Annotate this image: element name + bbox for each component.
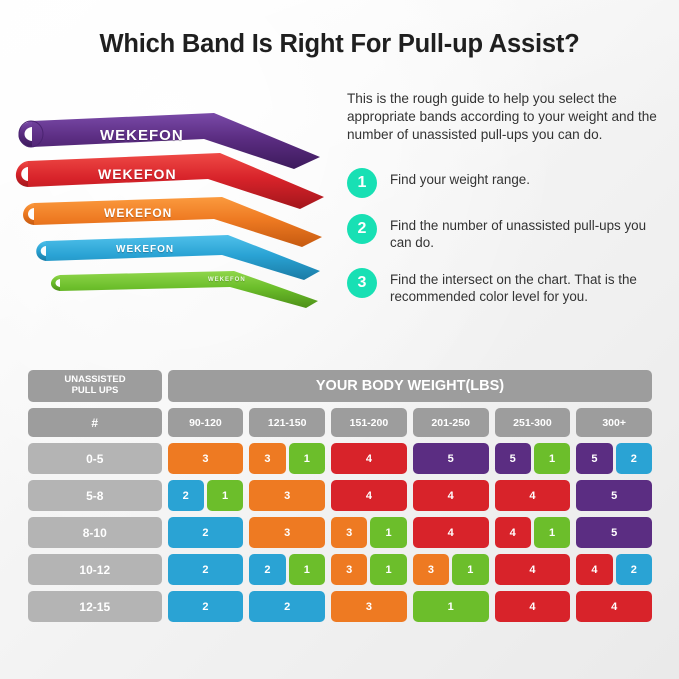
cell-r2-c1: 3 (249, 517, 325, 548)
cell-r1-c0: 21 (168, 480, 244, 511)
table-subheader-row: # 90-120 121-150 151-200 201-250 251-300… (28, 408, 652, 437)
blue-band-label: WEKEFON (116, 244, 174, 255)
band-chip: 4 (576, 554, 612, 585)
weight-range-0: 90-120 (168, 408, 244, 437)
band-chip: 3 (331, 554, 367, 585)
cell-r1-c1: 3 (249, 480, 325, 511)
cell-r2-c2: 31 (331, 517, 407, 548)
cell-r4-c3: 1 (413, 591, 489, 622)
step-1: 1 Find your weight range. (347, 168, 669, 198)
weight-range-5: 300+ (576, 408, 652, 437)
band-chip: 1 (534, 443, 570, 474)
cell-r2-c4: 41 (495, 517, 571, 548)
band-chip: 1 (207, 480, 243, 511)
bands-illustration: WEKEFON WEKEFON WEKEFON WEKEFON WEKEFON (8, 95, 338, 345)
band-chip: 2 (168, 517, 244, 548)
band-chip: 1 (289, 554, 325, 585)
step-3-badge: 3 (347, 268, 377, 298)
cell-r0-c0: 3 (168, 443, 244, 474)
band-chip: 3 (249, 443, 285, 474)
band-chip: 4 (576, 591, 652, 622)
steps-list: 1 Find your weight range. 2 Find the num… (347, 168, 669, 322)
cell-r0-c5: 52 (576, 443, 652, 474)
cell-r2-c0: 2 (168, 517, 244, 548)
cell-r2-c3: 4 (413, 517, 489, 548)
table-header-row: UNASSISTED PULL UPS YOUR BODY WEIGHT(LBS… (28, 370, 652, 402)
cell-r3-c2: 31 (331, 554, 407, 585)
cell-r4-c5: 4 (576, 591, 652, 622)
weight-range-3: 201-250 (413, 408, 489, 437)
band-chip: 4 (495, 480, 571, 511)
step-3-text: Find the intersect on the chart. That is… (390, 268, 669, 306)
band-chip: 3 (249, 517, 325, 548)
cell-r4-c1: 2 (249, 591, 325, 622)
cell-r1-c2: 4 (331, 480, 407, 511)
table-row: 8-1023314415 (28, 517, 652, 548)
purple-band-label: WEKEFON (100, 127, 184, 144)
band-chip: 4 (495, 554, 571, 585)
band-chip: 5 (576, 480, 652, 511)
band-chip: 1 (370, 517, 406, 548)
band-chip: 5 (413, 443, 489, 474)
band-chip: 2 (249, 554, 285, 585)
cell-r3-c5: 42 (576, 554, 652, 585)
band-chip: 2 (168, 554, 244, 585)
weight-range-2: 151-200 (331, 408, 407, 437)
cell-r4-c2: 3 (331, 591, 407, 622)
band-chip: 1 (289, 443, 325, 474)
band-chip: 1 (370, 554, 406, 585)
cell-r3-c3: 31 (413, 554, 489, 585)
cell-r0-c4: 51 (495, 443, 571, 474)
green-band (51, 271, 318, 308)
red-band-label: WEKEFON (98, 166, 177, 182)
table-row: 10-122213131442 (28, 554, 652, 585)
band-chip: 2 (616, 443, 652, 474)
cell-r0-c2: 4 (331, 443, 407, 474)
weight-range-1: 121-150 (249, 408, 325, 437)
step-1-badge: 1 (347, 168, 377, 198)
step-1-text: Find your weight range. (390, 168, 530, 188)
table-row: 12-15223144 (28, 591, 652, 622)
band-chip: 4 (331, 443, 407, 474)
cell-r3-c1: 21 (249, 554, 325, 585)
band-chip: 2 (249, 591, 325, 622)
cell-r2-c5: 5 (576, 517, 652, 548)
step-2-text: Find the number of unassisted pull-ups y… (390, 214, 669, 252)
band-chip: 3 (331, 517, 367, 548)
table-row: 0-5331455152 (28, 443, 652, 474)
row-label-0: 0-5 (28, 443, 162, 474)
band-chip: 4 (413, 480, 489, 511)
cell-r0-c3: 5 (413, 443, 489, 474)
row-label-4: 12-15 (28, 591, 162, 622)
row-label-3: 10-12 (28, 554, 162, 585)
band-chip: 5 (495, 443, 531, 474)
cell-r3-c4: 4 (495, 554, 571, 585)
row-label-1: 5-8 (28, 480, 162, 511)
cell-r4-c0: 2 (168, 591, 244, 622)
band-chip: 4 (495, 591, 571, 622)
band-chip: 3 (249, 480, 325, 511)
cell-r0-c1: 31 (249, 443, 325, 474)
step-2-badge: 2 (347, 214, 377, 244)
band-chip: 4 (495, 517, 531, 548)
intro-paragraph: This is the rough guide to help you sele… (347, 90, 667, 144)
band-chip: 2 (168, 591, 244, 622)
page-title: Which Band Is Right For Pull-up Assist? (0, 30, 679, 59)
hash-header: # (28, 408, 162, 437)
band-chip: 2 (616, 554, 652, 585)
band-chip: 5 (576, 517, 652, 548)
band-chip: 4 (413, 517, 489, 548)
cell-r1-c3: 4 (413, 480, 489, 511)
table-body: 0-53314551525-821344458-102331441510-122… (28, 443, 652, 622)
corner-line-2: PULL UPS (28, 386, 162, 397)
band-selection-table: UNASSISTED PULL UPS YOUR BODY WEIGHT(LBS… (28, 370, 652, 628)
cell-r3-c0: 2 (168, 554, 244, 585)
green-band-label: WEKEFON (208, 277, 246, 283)
step-3: 3 Find the intersect on the chart. That … (347, 268, 669, 306)
table-corner-header: UNASSISTED PULL UPS (28, 370, 162, 402)
table-row: 5-82134445 (28, 480, 652, 511)
band-chip: 3 (168, 443, 244, 474)
cell-r4-c4: 4 (495, 591, 571, 622)
band-chip: 2 (168, 480, 204, 511)
cell-r1-c5: 5 (576, 480, 652, 511)
band-chip: 1 (413, 591, 489, 622)
band-chip: 3 (413, 554, 449, 585)
row-label-2: 8-10 (28, 517, 162, 548)
step-2: 2 Find the number of unassisted pull-ups… (347, 214, 669, 252)
band-chip: 1 (452, 554, 488, 585)
cell-r1-c4: 4 (495, 480, 571, 511)
band-chip: 5 (576, 443, 612, 474)
band-chip: 4 (331, 480, 407, 511)
orange-band-label: WEKEFON (104, 206, 172, 220)
weight-range-4: 251-300 (495, 408, 571, 437)
band-chip: 1 (534, 517, 570, 548)
table-top-header: YOUR BODY WEIGHT(LBS) (168, 370, 652, 402)
band-chip: 3 (331, 591, 407, 622)
